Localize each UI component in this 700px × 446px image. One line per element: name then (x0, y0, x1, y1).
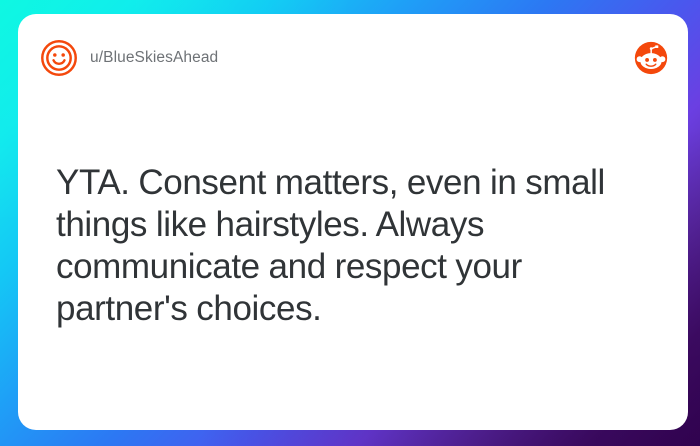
smiley-face-icon (40, 39, 78, 77)
author-username[interactable]: u/BlueSkiesAhead (90, 49, 218, 67)
screenshot-stage: u/BlueSkiesAhead (0, 0, 700, 446)
comment-body-text: YTA. Consent matters, even in small thin… (56, 162, 640, 330)
card-header: u/BlueSkiesAhead (40, 32, 668, 84)
reddit-snoo-icon (634, 41, 668, 75)
reddit-comment-card: u/BlueSkiesAhead (18, 14, 688, 430)
